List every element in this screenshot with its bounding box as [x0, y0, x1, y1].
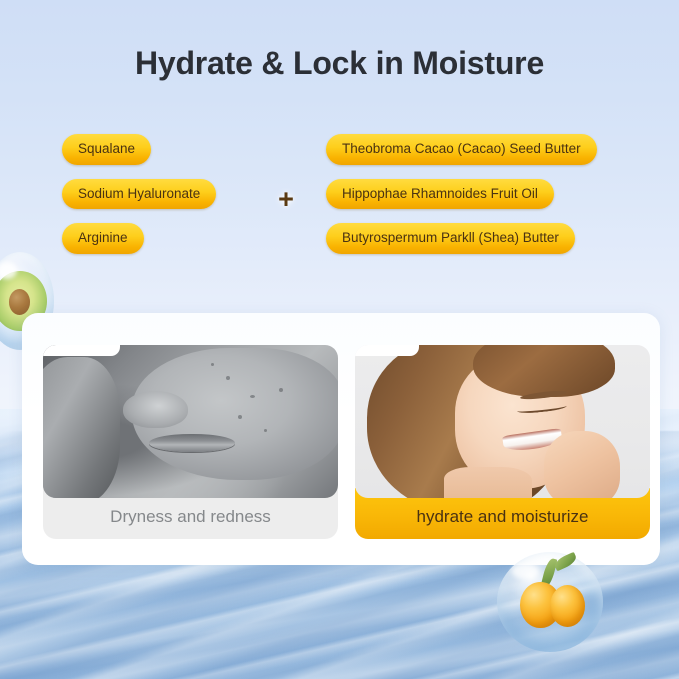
- ingredient-pill: Sodium Hyaluronate: [62, 179, 216, 210]
- ingredient-pill: Hippophae Rhamnoides Fruit Oil: [326, 179, 554, 210]
- before-nose: [123, 391, 188, 428]
- before-blemish: [279, 388, 283, 392]
- before-hand: [43, 357, 120, 498]
- before-blemish: [226, 376, 230, 380]
- ingredient-pill: Theobroma Cacao (Cacao) Seed Butter: [326, 134, 597, 165]
- ingredient-column-right: Theobroma Cacao (Cacao) Seed Butter Hipp…: [326, 134, 597, 254]
- berries-bubble-image: [497, 552, 603, 652]
- before-photo: Before: [43, 345, 338, 498]
- ingredient-pill: Arginine: [62, 223, 144, 254]
- ingredient-pill: Squalane: [62, 134, 151, 165]
- before-label-tab: Before: [43, 345, 120, 356]
- avocado-pit: [9, 289, 30, 314]
- after-label-tab: After: [355, 345, 419, 356]
- after-photo: After: [355, 345, 650, 498]
- product-infographic: Hydrate & Lock in Moisture Squalane Sodi…: [0, 0, 679, 679]
- after-card: After hydrate and moisturize: [355, 345, 650, 539]
- before-lips: [149, 434, 235, 452]
- sea-buckthorn-berry: [550, 585, 585, 627]
- before-card: Before Dryness and redness: [43, 345, 338, 539]
- ingredient-pill: Butyrospermum Parkll (Shea) Butter: [326, 223, 575, 254]
- after-neck: [444, 467, 533, 498]
- ingredients-section: Squalane Sodium Hyaluronate Arginine + T…: [0, 134, 679, 274]
- plus-icon: +: [274, 187, 298, 211]
- after-hair-front: [473, 345, 615, 397]
- page-title: Hydrate & Lock in Moisture: [0, 45, 679, 82]
- after-hand: [544, 431, 621, 498]
- ingredient-column-left: Squalane Sodium Hyaluronate Arginine: [62, 134, 216, 254]
